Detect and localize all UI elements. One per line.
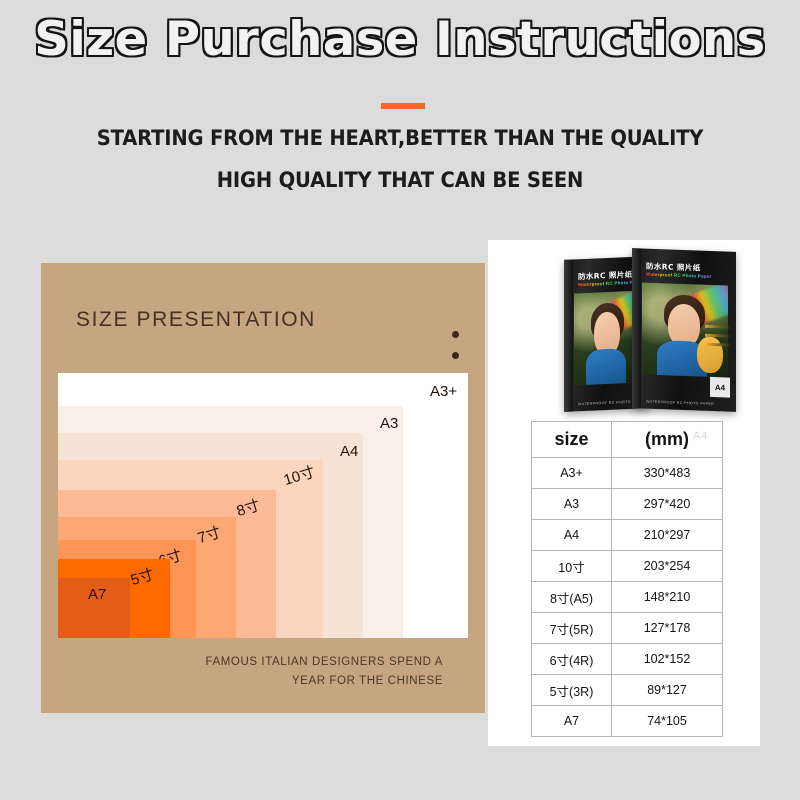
table-row: 5寸(3R)89*127 [532, 675, 723, 706]
dot-icon [452, 352, 459, 359]
box-footer: WATERPROOF RC PHOTO PAPER [646, 400, 714, 406]
page-root: Size Purchase Instructions STARTING FROM… [0, 0, 800, 800]
cell-size: A3+ [532, 458, 612, 489]
cell-size: 10寸 [532, 551, 612, 582]
size-rect-label-A3: A3 [380, 415, 398, 432]
decorative-dots [452, 331, 459, 373]
cell-mm: 148*210 [612, 582, 723, 613]
box-size-badge: A4 [710, 377, 730, 398]
box-spine [564, 259, 573, 411]
cell-size: A4 [532, 520, 612, 551]
cell-mm: 210*297 [612, 520, 723, 551]
table-header-row: size (mm) [532, 422, 723, 458]
panel-footer-line-2: YEAR FOR THE CHINESE [205, 672, 443, 691]
page-title: Size Purchase Instructions [0, 12, 800, 68]
size-rect-label-A4: A4 [340, 443, 358, 460]
size-specification-table: size (mm) A3+330*483A3297*420A4210*29710… [531, 421, 723, 737]
panel-footer-text: FAMOUS ITALIAN DESIGNERS SPEND A YEAR FO… [205, 653, 443, 691]
cell-size: 5寸(3R) [532, 675, 612, 706]
table-row: 6寸(4R)102*152 [532, 644, 723, 675]
subtitle-line-2: HIGH QUALITY THAT CAN BE SEEN [28, 168, 772, 192]
cell-mm: 102*152 [612, 644, 723, 675]
table-row: 8寸(A5)148*210 [532, 582, 723, 613]
table-row: 10寸203*254 [532, 551, 723, 582]
cell-size: A3 [532, 489, 612, 520]
cell-mm: 203*254 [612, 551, 723, 582]
subtitle-line-1: STARTING FROM THE HEART,BETTER THAN THE … [28, 126, 772, 150]
box-feature-bullets [705, 325, 731, 353]
box-title-en: Waterproof RC Photo Paper [646, 272, 712, 279]
size-presentation-panel: SIZE PRESENTATION A3+A3A410寸8寸7寸6寸5寸A7 F… [41, 263, 485, 713]
box-spine [632, 248, 641, 408]
table-row: A4210*297 [532, 520, 723, 551]
cell-size: 8寸(A5) [532, 582, 612, 613]
table-row: 7寸(5R)127*178 [532, 613, 723, 644]
column-header-size: size [532, 422, 612, 458]
table-row: A3297*420 [532, 489, 723, 520]
panel-heading: SIZE PRESENTATION [76, 308, 316, 332]
dot-icon [452, 331, 459, 338]
panel-footer-line-1: FAMOUS ITALIAN DESIGNERS SPEND A [205, 653, 443, 672]
product-box-front: 防水RC 照片纸 Waterproof RC Photo Paper A4 WA… [632, 248, 736, 412]
cell-mm: 330*483 [612, 458, 723, 489]
cell-mm: 89*127 [612, 675, 723, 706]
cell-mm: 297*420 [612, 489, 723, 520]
cell-size: A7 [532, 706, 612, 737]
size-rect-label-A3+: A3+ [430, 383, 457, 400]
cell-size: 6寸(4R) [532, 644, 612, 675]
cell-size: 7寸(5R) [532, 613, 612, 644]
size-rect-label-A7: A7 [88, 586, 106, 603]
table-row: A774*105 [532, 706, 723, 737]
size-comparison-chart: A3+A3A410寸8寸7寸6寸5寸A7 [58, 373, 468, 638]
title-divider-rule [381, 103, 425, 109]
product-info-card: 防水RC 照片纸 Waterproof RC Photo Paper WATER… [488, 240, 760, 746]
cell-mm: 74*105 [612, 706, 723, 737]
table-row: A3+330*483 [532, 458, 723, 489]
product-photo: 防水RC 照片纸 Waterproof RC Photo Paper WATER… [506, 246, 746, 416]
cell-mm: 127*178 [612, 613, 723, 644]
column-header-mm: (mm) [612, 422, 723, 458]
